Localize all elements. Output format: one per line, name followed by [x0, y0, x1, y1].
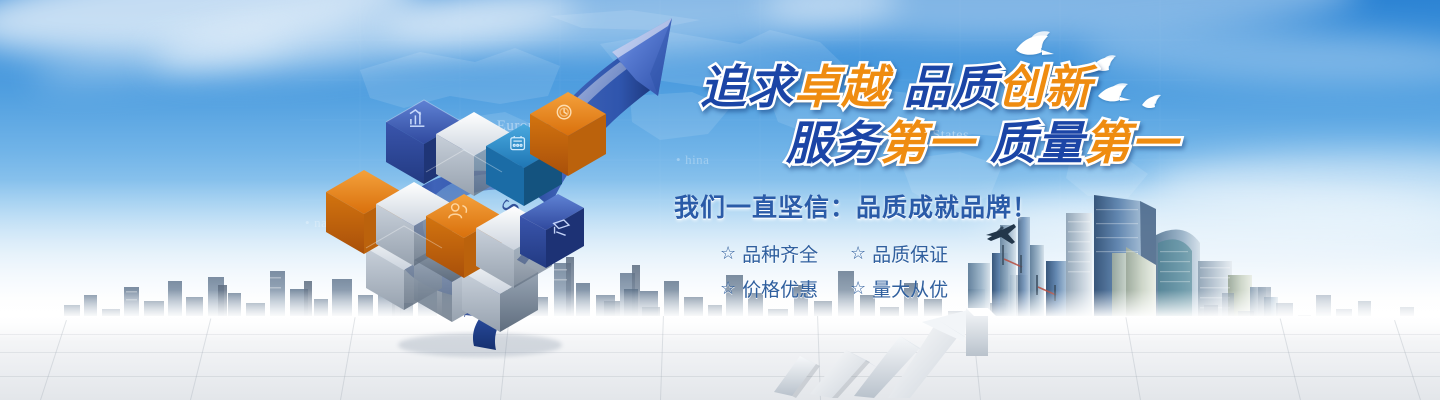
headline-word: 卓越 — [794, 64, 888, 110]
banner-copy: 追求卓越品质创新 服务第一质量第一 我们一直坚信：品质成就品牌！ ☆ 品种齐全 … — [668, 64, 1208, 302]
feature-label: 价格优惠 — [742, 275, 818, 302]
star-icon: ☆ — [850, 280, 866, 298]
feature-label: 量大从优 — [872, 275, 948, 302]
feature-item: ☆ 量大从优 — [850, 275, 970, 302]
promo-banner: Europe United States hina na — [0, 0, 1440, 400]
map-label-europe: Europe — [487, 118, 543, 135]
cloud-shape — [378, 0, 901, 66]
headline-word: 服务 — [786, 120, 880, 166]
headline-word: 追求 — [700, 64, 794, 110]
dove-icon — [1012, 30, 1056, 60]
plaza-line — [0, 352, 1440, 353]
plaza-line — [0, 334, 1440, 335]
business-ribbon-label: BUSINESS — [459, 177, 537, 320]
plaza-gloss — [0, 316, 1440, 342]
feature-list: ☆ 品种齐全 ☆ 品质保证 ☆ 价格优惠 ☆ 量大从优 — [720, 240, 1208, 302]
feature-item: ☆ 品质保证 — [850, 240, 970, 267]
headline-word: 品质 — [904, 64, 998, 110]
feature-label: 品质保证 — [872, 240, 948, 267]
map-label-asia: na — [305, 215, 327, 231]
plaza-line — [0, 376, 1440, 377]
headline-word: 质量 — [990, 120, 1084, 166]
feature-item: ☆ 品种齐全 — [720, 240, 838, 267]
feature-label: 品种齐全 — [742, 240, 818, 267]
cloud-shape — [0, 0, 423, 72]
cloud-shape — [759, 0, 1362, 50]
plaza-floor — [0, 316, 1440, 400]
cloud-shape — [28, 22, 291, 98]
star-icon: ☆ — [720, 245, 736, 263]
headline-word: 第一 — [880, 120, 974, 166]
star-icon: ☆ — [850, 245, 866, 263]
feature-item: ☆ 价格优惠 — [720, 275, 838, 302]
headline-word: 第一 — [1084, 120, 1178, 166]
headline-line-2: 服务第一质量第一 — [786, 120, 1208, 166]
headline-line-1: 追求卓越品质创新 — [700, 64, 1208, 110]
banner-tagline: 我们一直坚信：品质成就品牌！ — [674, 188, 1208, 224]
headline-word: 创新 — [998, 64, 1092, 110]
star-icon: ☆ — [720, 280, 736, 298]
cloud-shape — [148, 0, 582, 90]
